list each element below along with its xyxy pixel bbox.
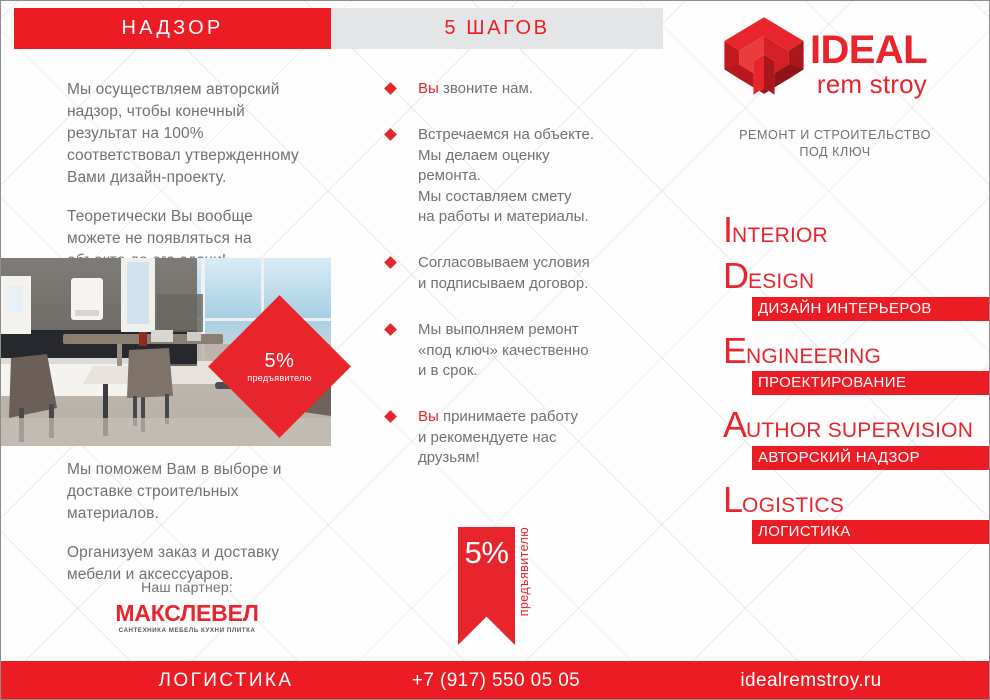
acronym-cap: D — [723, 255, 748, 296]
acronym-item-design: DESIGN ДИЗАЙН ИНТЕРЬЕРОВ — [723, 260, 990, 320]
diamond-bullet-icon — [384, 129, 397, 142]
supervision-paragraph-1: Мы осуществляем авторский надзор, чтобы … — [67, 79, 307, 189]
acronym-ru-bar: АВТОРСКИЙ НАДЗОР — [752, 446, 990, 470]
step-text: Согласовываем условия и подписываем дого… — [418, 254, 590, 291]
section-header-nadzor-label: НАДЗОР — [122, 17, 224, 40]
acronym-en: AUTHOR SUPERVISION — [723, 409, 990, 441]
acronym-item-interior: INTERIOR — [723, 214, 990, 246]
discount-ribbon-side-text: предъявителю — [517, 527, 531, 645]
acronym-rest: ESIGN — [748, 270, 814, 293]
diamond-bullet-icon — [384, 256, 397, 269]
section-header-5-steps-label: 5 ШАГОВ — [444, 17, 549, 40]
acronym-ru-bar: ПРОЕКТИРОВАНИЕ — [752, 371, 990, 395]
acronym-cap: L — [723, 479, 742, 520]
footer-phone[interactable]: +7 (917) 550 05 05 — [346, 670, 646, 692]
step-text: Встречаемся на объекте. Мы делаем оценку… — [418, 126, 594, 225]
diamond-bullet-icon — [384, 323, 397, 336]
acronym-cap: I — [723, 209, 732, 250]
step-body: принимаете работу и рекомендуете нас дру… — [418, 408, 578, 466]
step-text: Вы звоните нам. — [418, 80, 533, 97]
step-highlight: Вы — [418, 408, 439, 425]
brand-subname: rem stroy — [810, 71, 927, 97]
acronym-item-logistics: LOGISTICS ЛОГИСТИКА — [723, 484, 990, 544]
acronym-item-author-supervision: AUTHOR SUPERVISION АВТОРСКИЙ НАДЗОР — [723, 409, 990, 469]
acronym-cap: E — [723, 330, 746, 371]
list-item: Вы принимаете работу и рекомендуете нас … — [386, 407, 636, 468]
list-item: Вы звоните нам. — [386, 79, 636, 99]
ribbon-side-label: предъявителю — [517, 527, 531, 616]
acronym-cap: A — [723, 404, 746, 445]
brand-name: IDEAL — [810, 31, 927, 69]
brochure-page: НАДЗОР 5 ШАГОВ Мы осуществляем авторский… — [0, 0, 990, 700]
acronym-rest: NGINEERING — [746, 345, 881, 368]
step-body: Встречаемся на объекте. Мы делаем оценку… — [418, 126, 594, 225]
middle-column: Вы звоните нам. Встречаемся на объекте. … — [331, 61, 663, 661]
footer-website[interactable]: idealremstroy.ru — [661, 670, 961, 692]
left-column: Мы осуществляем авторский надзор, чтобы … — [14, 61, 331, 661]
step-highlight: Вы — [418, 80, 439, 97]
acronym-rest: NTERIOR — [732, 224, 828, 247]
list-item: Встречаемся на объекте. Мы делаем оценку… — [386, 125, 636, 227]
step-text: Вы принимаете работу и рекомендуете нас … — [418, 408, 578, 466]
step-text: Мы выполняем ремонт «под ключ» качествен… — [418, 321, 589, 379]
acronym-en: ENGINEERING — [723, 335, 990, 367]
discount-ribbon-badge: 5% — [458, 527, 515, 645]
cube-logo-icon — [720, 11, 808, 101]
section-header-nadzor: НАДЗОР — [14, 8, 331, 49]
acronym-en: LOGISTICS — [723, 484, 990, 516]
acronym-en: INTERIOR — [723, 214, 990, 246]
brand-tagline: РЕМОНТ И СТРОИТЕЛЬСТВО ПОД КЛЮЧ — [720, 127, 950, 161]
list-item: Мы выполняем ремонт «под ключ» качествен… — [386, 320, 636, 381]
supervision-text-block: Мы осуществляем авторский надзор, чтобы … — [67, 79, 307, 272]
acronym-ru-bar: ЛОГИСТИКА — [752, 520, 990, 544]
steps-list: Вы звоните нам. Встречаемся на объекте. … — [386, 79, 636, 494]
acronym-rest: OGISTICS — [742, 494, 844, 517]
partner-block: Наш партнер: МАКСЛЕВЕЛ САНТЕХНИКА МЕБЕЛЬ… — [67, 579, 307, 634]
diamond-bullet-icon — [384, 410, 397, 423]
list-item: Согласовываем условия и подписываем дого… — [386, 253, 636, 294]
acronym-ru-bar: ДИЗАЙН ИНТЕРЬЕРОВ — [752, 297, 990, 321]
brand-logo: IDEAL rem stroy — [720, 11, 927, 101]
step-body: Мы выполняем ремонт «под ключ» качествен… — [418, 321, 589, 379]
ribbon-percent: 5% — [458, 535, 515, 571]
step-body: звоните нам. — [439, 80, 533, 97]
ideal-acronym-list: INTERIOR DESIGN ДИЗАЙН ИНТЕРЬЕРОВ ENGINE… — [723, 214, 990, 558]
brand-logo-text: IDEAL rem stroy — [810, 31, 927, 97]
partner-label: Наш партнер: — [67, 579, 307, 595]
section-header-5-steps: 5 ШАГОВ — [331, 8, 663, 49]
step-body: Согласовываем условия и подписываем дого… — [418, 254, 590, 291]
partner-logo-maxlevel: МАКСЛЕВЕЛ — [67, 602, 307, 625]
footer-logistics-label: ЛОГИСТИКА — [76, 670, 376, 692]
footer-bar: ЛОГИСТИКА +7 (917) 550 05 05 idealremstr… — [1, 661, 990, 700]
materials-text-block: Мы поможем Вам в выборе и доставке строи… — [67, 459, 317, 586]
acronym-item-engineering: ENGINEERING ПРОЕКТИРОВАНИЕ — [723, 335, 990, 395]
acronym-en: DESIGN — [723, 260, 990, 292]
partner-tagline: САНТЕХНИКА МЕБЕЛЬ КУХНИ ПЛИТКА — [67, 627, 307, 634]
diamond-bullet-icon — [384, 82, 397, 95]
materials-paragraph-1: Мы поможем Вам в выборе и доставке строи… — [67, 459, 317, 525]
acronym-rest: UTHOR SUPERVISION — [746, 419, 973, 442]
